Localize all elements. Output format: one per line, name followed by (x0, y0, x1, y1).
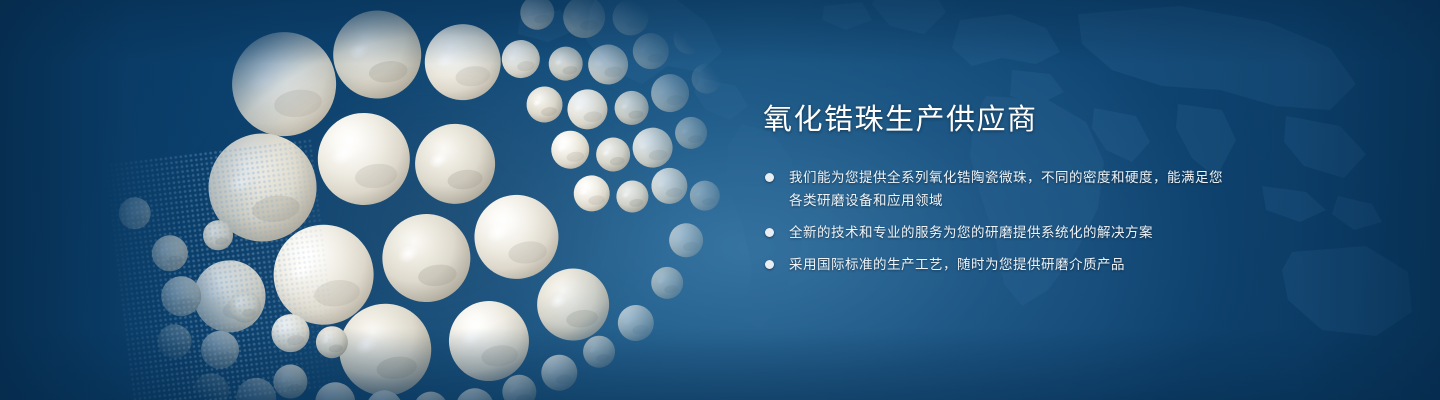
feature-bullet-text: 我们能为您提供全系列氧化锆陶瓷微珠，不同的密度和硬度，能满足您各类研磨设备和应用… (789, 166, 1233, 212)
bullet-dot-icon (765, 260, 774, 269)
zirconia-bead-cluster-photo (94, 0, 787, 400)
bullet-dot-icon (765, 173, 774, 182)
feature-bullet-item: 我们能为您提供全系列氧化锆陶瓷微珠，不同的密度和硬度，能满足您各类研磨设备和应用… (763, 166, 1233, 212)
feature-bullet-text: 采用国际标准的生产工艺，随时为您提供研磨介质产品 (789, 253, 1233, 276)
bullet-dot-icon (765, 228, 774, 237)
feature-bullet-text: 全新的技术和专业的服务为您的研磨提供系统化的解决方案 (789, 221, 1233, 244)
feature-bullet-item: 全新的技术和专业的服务为您的研磨提供系统化的解决方案 (763, 221, 1233, 244)
feature-bullet-list: 我们能为您提供全系列氧化锆陶瓷微珠，不同的密度和硬度，能满足您各类研磨设备和应用… (763, 166, 1233, 276)
feature-bullet-item: 采用国际标准的生产工艺，随时为您提供研磨介质产品 (763, 253, 1233, 276)
banner-headline: 氧化锆珠生产供应商 (763, 104, 1233, 137)
hero-banner: 氧化锆珠生产供应商 我们能为您提供全系列氧化锆陶瓷微珠，不同的密度和硬度，能满足… (0, 0, 1440, 400)
banner-copy: 氧化锆珠生产供应商 我们能为您提供全系列氧化锆陶瓷微珠，不同的密度和硬度，能满足… (763, 104, 1233, 276)
